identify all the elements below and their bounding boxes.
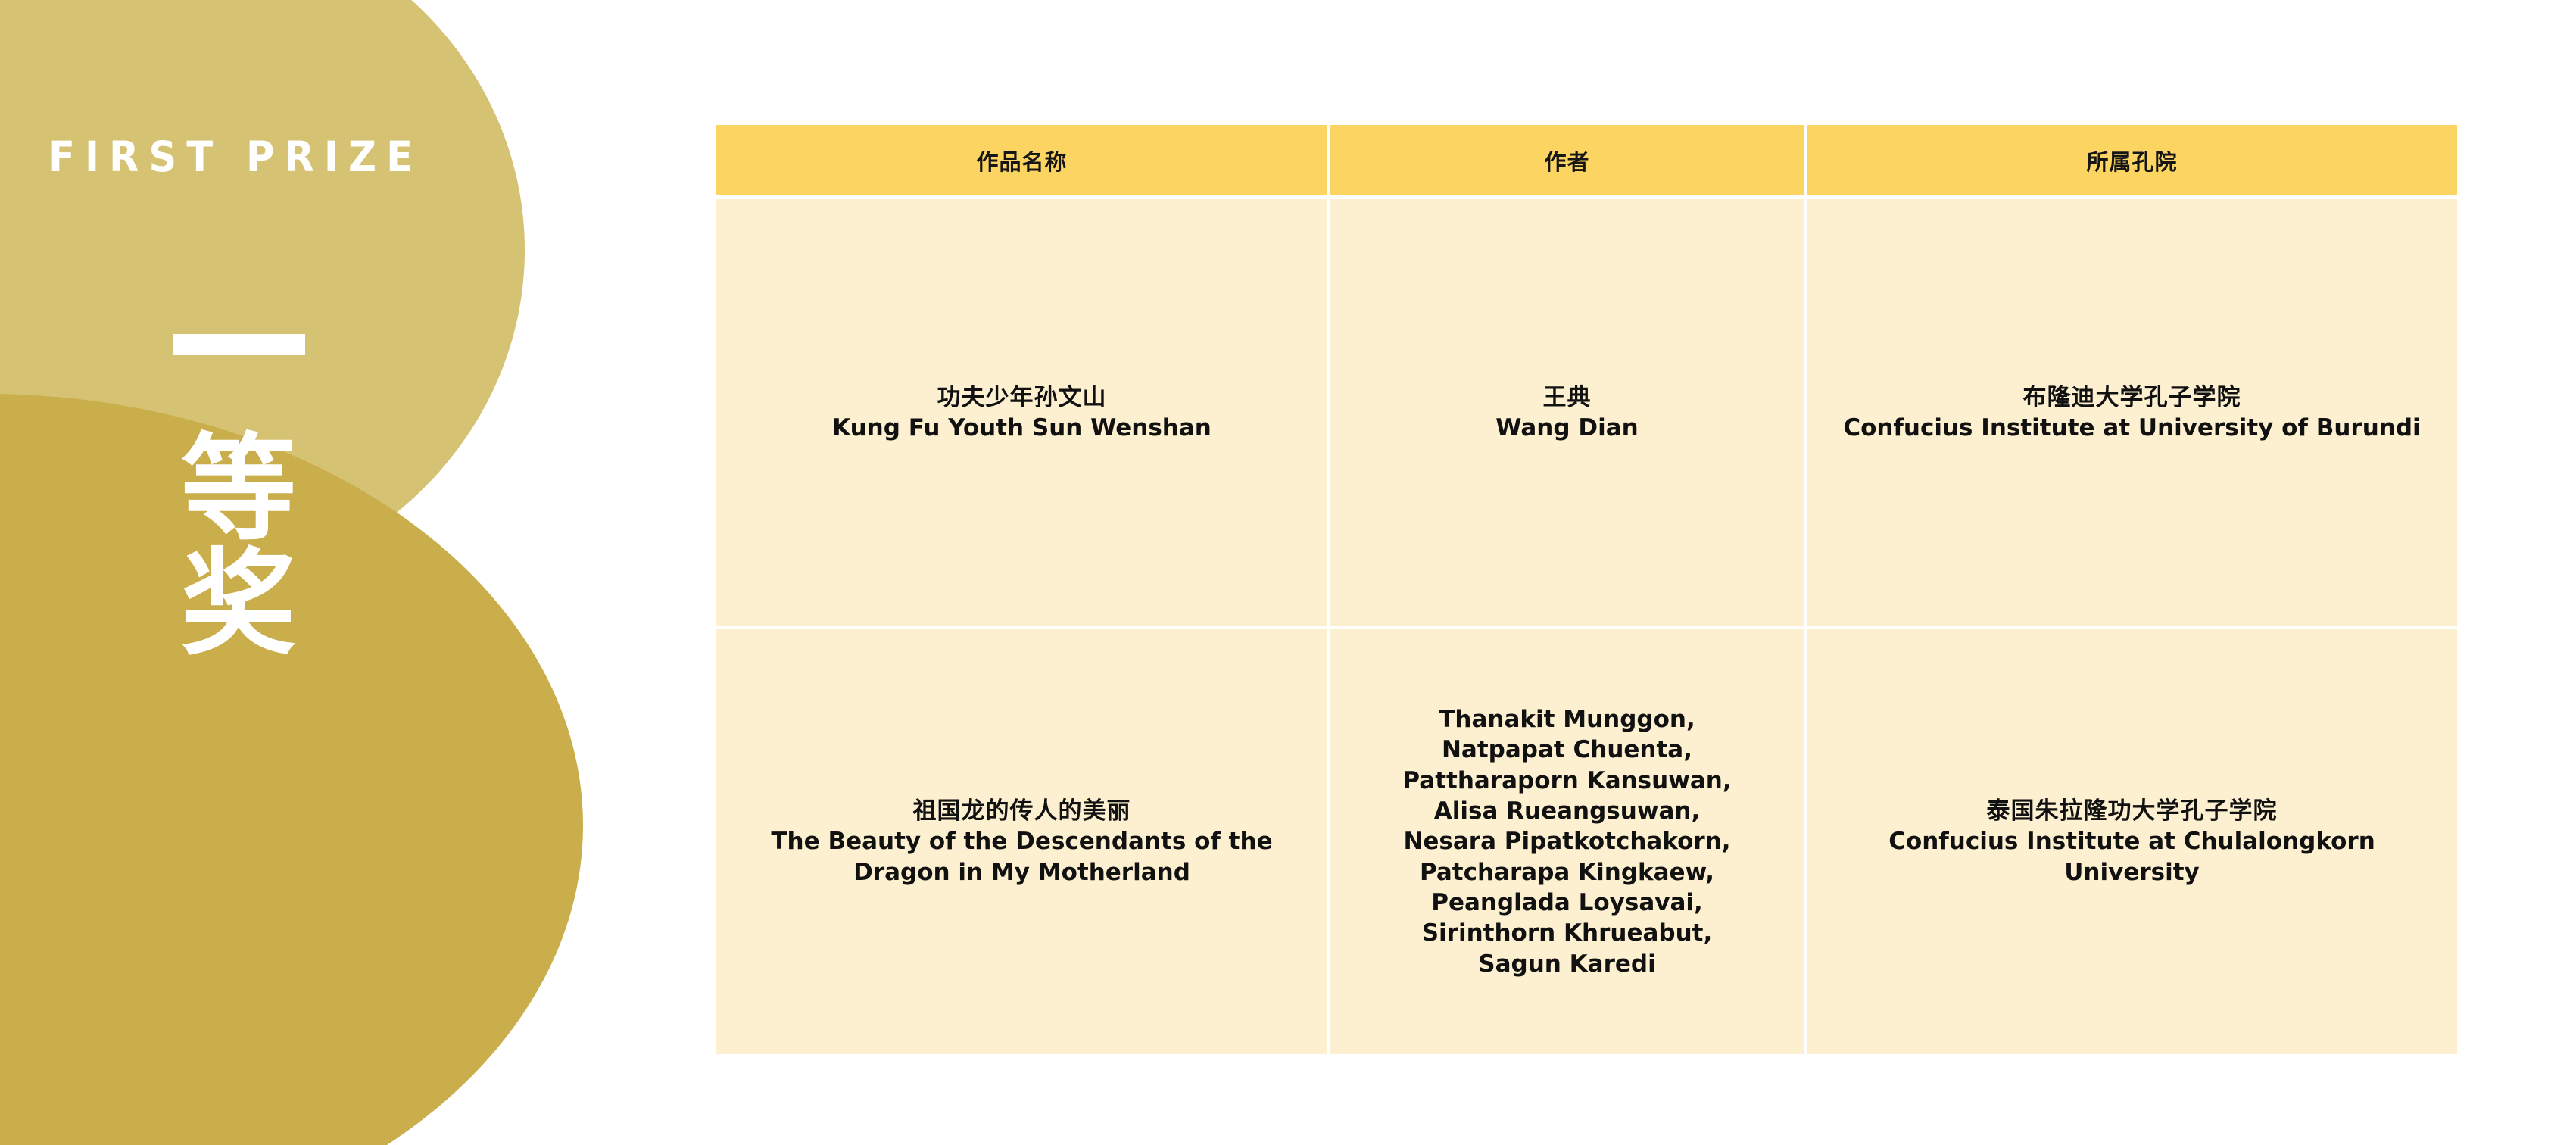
table-header-row: 作品名称 作者 所属孔院 — [716, 125, 2457, 199]
cell-institute: 布隆迪大学孔子学院 Confucius Institute at Univers… — [1807, 199, 2457, 629]
title-english: Kung Fu Youth Sun Wenshan — [728, 413, 1315, 443]
prize-rank-char-2: 奖 — [68, 547, 409, 662]
institute-english: Confucius Institute at Chulalongkorn Uni… — [1819, 826, 2445, 888]
column-header-title: 作品名称 — [716, 125, 1330, 199]
cell-title: 祖国龙的传人的美丽 The Beauty of the Descendants … — [716, 629, 1330, 1054]
author-name: Thanakit Munggon, — [1342, 704, 1792, 735]
prize-panel: FIRST PRIZE 等 奖 — [0, 0, 606, 1145]
first-prize-label: FIRST PRIZE — [48, 136, 423, 178]
author-name: Natpapat Chuenta, — [1342, 735, 1792, 765]
author-chinese: 王典 — [1342, 382, 1792, 413]
horizontal-bar-icon — [173, 334, 305, 355]
institute-chinese: 泰国朱拉隆功大学孔子学院 — [1819, 796, 2445, 826]
author-name: Alisa Rueangsuwan, — [1342, 796, 1792, 826]
table-row: 功夫少年孙文山 Kung Fu Youth Sun Wenshan 王典 Wan… — [716, 199, 2457, 629]
title-chinese: 功夫少年孙文山 — [728, 382, 1315, 413]
column-header-institute: 所属孔院 — [1807, 125, 2457, 199]
cell-institute: 泰国朱拉隆功大学孔子学院 Confucius Institute at Chul… — [1807, 629, 2457, 1054]
author-name: Sirinthorn Khrueabut, — [1342, 918, 1792, 948]
prize-rank-chinese: 等 奖 — [68, 432, 409, 662]
author-name: Nesara Pipatkotchakorn, — [1342, 826, 1792, 856]
prize-rank-char-1: 等 — [68, 432, 409, 547]
column-header-author: 作者 — [1330, 125, 1807, 199]
author-name: Patcharapa Kingkaew, — [1342, 857, 1792, 888]
author-name: Peanglada Loysavai, — [1342, 888, 1792, 918]
author-name: Pattharaporn Kansuwan, — [1342, 766, 1792, 796]
awards-table: 作品名称 作者 所属孔院 功夫少年孙文山 Kung Fu Youth Sun W… — [716, 125, 2457, 1054]
title-english: The Beauty of the Descendants of the Dra… — [728, 826, 1315, 888]
table-row: 祖国龙的传人的美丽 The Beauty of the Descendants … — [716, 629, 2457, 1054]
cell-title: 功夫少年孙文山 Kung Fu Youth Sun Wenshan — [716, 199, 1330, 629]
cell-author: 王典 Wang Dian — [1330, 199, 1807, 629]
institute-chinese: 布隆迪大学孔子学院 — [1819, 382, 2445, 413]
title-chinese: 祖国龙的传人的美丽 — [728, 796, 1315, 826]
cell-author: Thanakit Munggon, Natpapat Chuenta, Patt… — [1330, 629, 1807, 1054]
author-name: Sagun Karedi — [1342, 949, 1792, 979]
institute-english: Confucius Institute at University of Bur… — [1819, 413, 2445, 443]
author-english: Wang Dian — [1342, 413, 1792, 443]
